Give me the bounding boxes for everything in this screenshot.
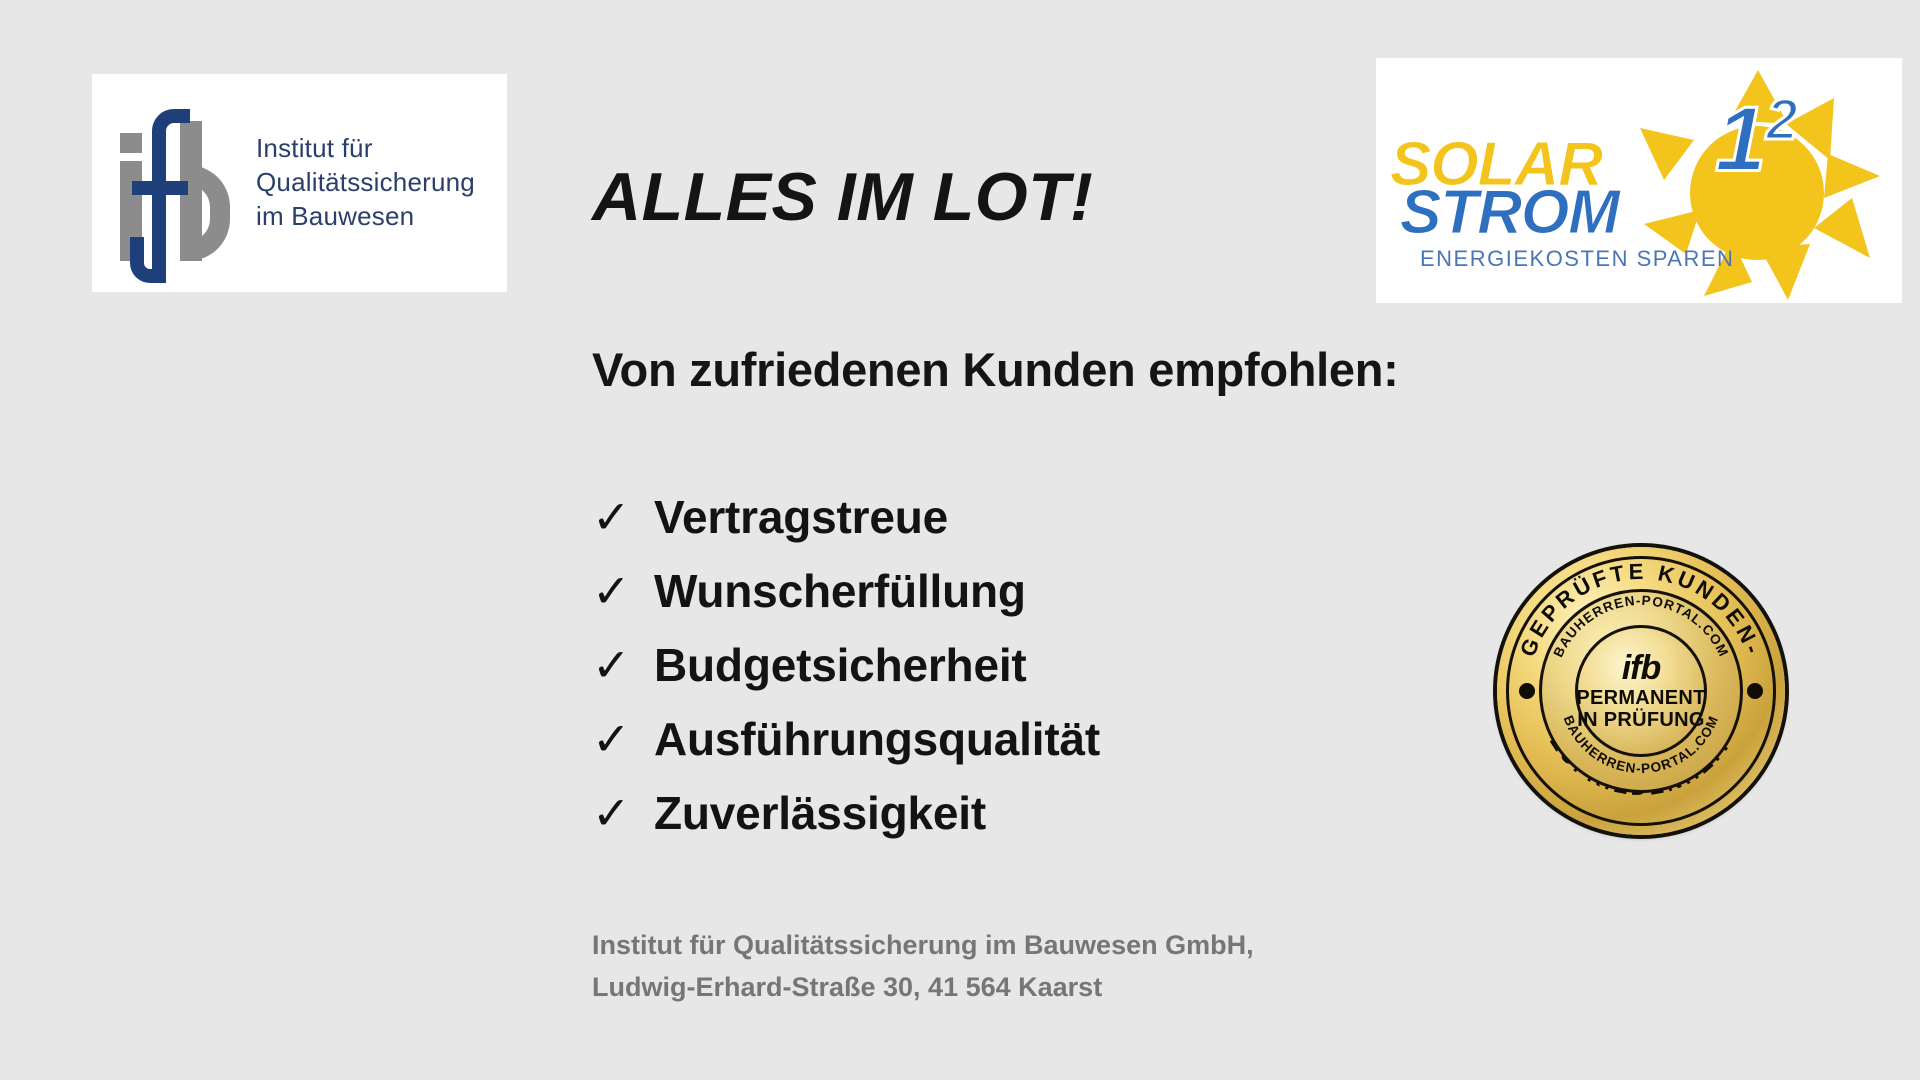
solar-badge-number: 12	[1715, 92, 1798, 186]
ifb-logo-mark-icon	[114, 103, 232, 263]
ifb-logo-line-2: Qualitätssicherung	[256, 166, 475, 200]
ifb-letter-b-bowl	[188, 165, 230, 261]
check-icon: ✓	[592, 716, 654, 762]
ifb-logo-line-1: Institut für	[256, 132, 475, 166]
ifb-letter-i-dot	[120, 133, 142, 153]
ifb-letter-f-crossbar	[132, 181, 188, 195]
badge-number-base: 1	[1715, 89, 1766, 191]
certification-seal: GEPRÜFTE KUNDEN- ZUFRIEDENHEIT BAUHERREN…	[1497, 547, 1785, 835]
benefit-label: Vertragstreue	[654, 490, 948, 544]
list-item: ✓ Ausführungsqualität	[592, 712, 1100, 786]
seal-ifb-mark-icon: ifb	[1566, 651, 1716, 685]
list-item: ✓ Zuverlässigkeit	[592, 786, 1100, 860]
check-icon: ✓	[592, 642, 654, 688]
check-icon: ✓	[592, 568, 654, 614]
benefit-label: Budgetsicherheit	[654, 638, 1027, 692]
ifb-letter-f-tail	[130, 237, 166, 283]
benefits-list: ✓ Vertragstreue ✓ Wunscherfüllung ✓ Budg…	[592, 490, 1100, 860]
seal-center-content: ifb PERMANENT IN PRÜFUNG	[1566, 651, 1716, 731]
ifb-logo-card: Institut für Qualitätssicherung im Bauwe…	[92, 74, 507, 292]
benefit-label: Wunscherfüllung	[654, 564, 1026, 618]
seal-status-line-1: PERMANENT	[1566, 688, 1716, 710]
check-icon: ✓	[592, 790, 654, 836]
strom-wordmark: STROM	[1400, 184, 1619, 241]
benefit-label: Zuverlässigkeit	[654, 786, 986, 840]
ifb-letter-f	[144, 109, 190, 277]
list-item: ✓ Budgetsicherheit	[592, 638, 1100, 712]
address-line-1: Institut für Qualitätssicherung im Bauwe…	[592, 925, 1254, 967]
ifb-logo-text: Institut für Qualitätssicherung im Bauwe…	[256, 132, 475, 233]
address-line-2: Ludwig-Erhard-Straße 30, 41 564 Kaarst	[592, 967, 1254, 1009]
check-icon: ✓	[592, 494, 654, 540]
seal-status-line-2: IN PRÜFUNG	[1566, 710, 1716, 732]
benefit-label: Ausführungsqualität	[654, 712, 1100, 766]
ifb-logo-line-3: im Bauwesen	[256, 200, 475, 234]
page-title: ALLES IM LOT!	[592, 158, 1093, 236]
solar-tagline: ENERGIEKOSTEN SPAREN	[1420, 246, 1734, 272]
list-item: ✓ Wunscherfüllung	[592, 564, 1100, 638]
solarstrom-logo-card: SOLAR STROM ENERGIEKOSTEN SPAREN	[1376, 58, 1902, 303]
section-subtitle: Von zufriedenen Kunden empfohlen:	[592, 342, 1399, 397]
badge-number-exponent: 2	[1766, 88, 1798, 152]
list-item: ✓ Vertragstreue	[592, 490, 1100, 564]
company-address: Institut für Qualitätssicherung im Bauwe…	[592, 925, 1254, 1009]
slide-canvas: Institut für Qualitätssicherung im Bauwe…	[0, 0, 1920, 1080]
